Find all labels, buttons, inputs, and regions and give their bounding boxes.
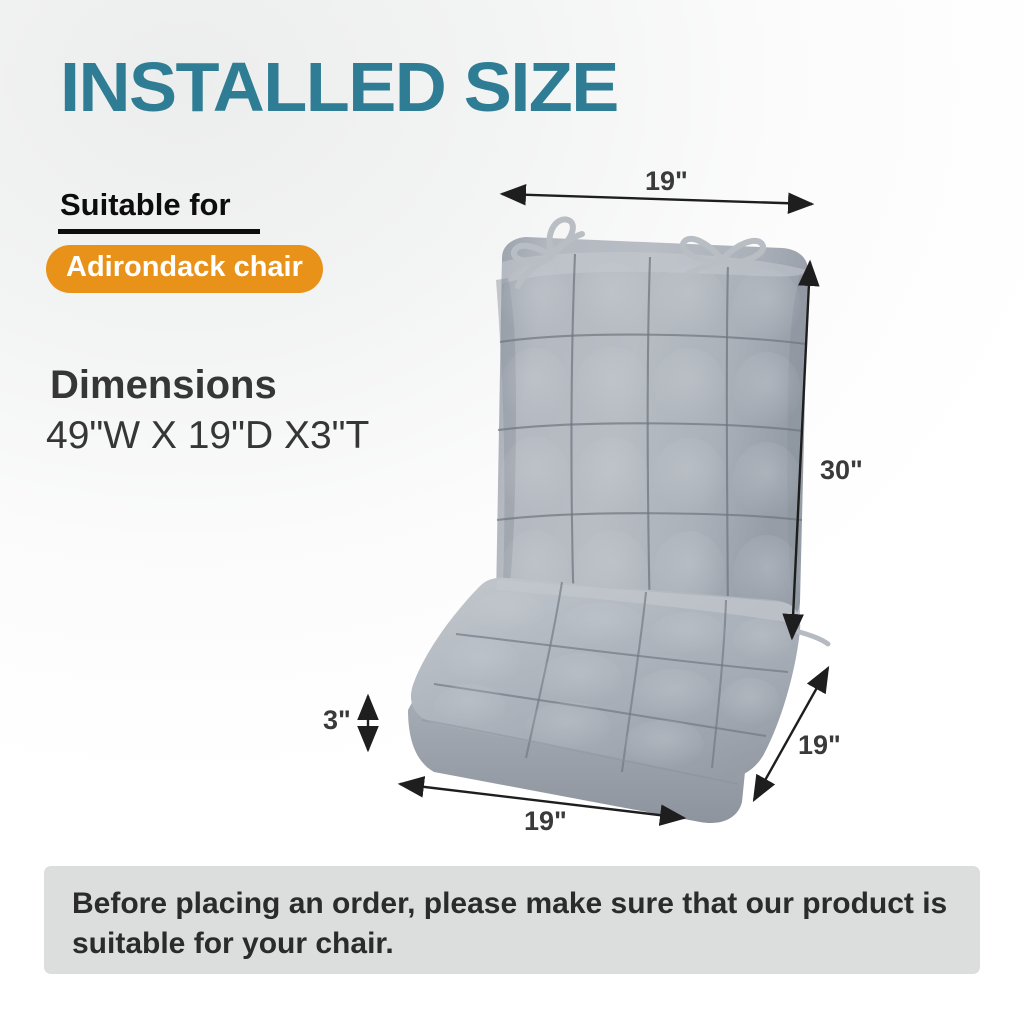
dimensions-value: 49"W X 19"D X3"T [46, 415, 369, 458]
dimension-label-seat-depth: 19" [798, 730, 841, 761]
dimensions-heading: Dimensions [50, 363, 277, 407]
chair-type-badge: Adirondack chair [46, 245, 323, 293]
seat-cushion [408, 578, 828, 823]
dimension-label-thickness: 3" [323, 705, 351, 736]
suitable-for-underline [58, 229, 260, 234]
dimension-label-back-height: 30" [820, 455, 863, 486]
dimension-label-seat-width: 19" [524, 806, 567, 837]
backrest-cushion [496, 237, 808, 626]
infographic-page: INSTALLED SIZE Suitable for Adirondack c… [0, 0, 1024, 1024]
page-title: INSTALLED SIZE [60, 52, 618, 122]
suitable-for-label: Suitable for [60, 188, 231, 222]
product-illustration [330, 150, 950, 850]
footer-note: Before placing an order, please make sur… [72, 884, 962, 963]
dimension-label-top-width: 19" [645, 166, 688, 197]
